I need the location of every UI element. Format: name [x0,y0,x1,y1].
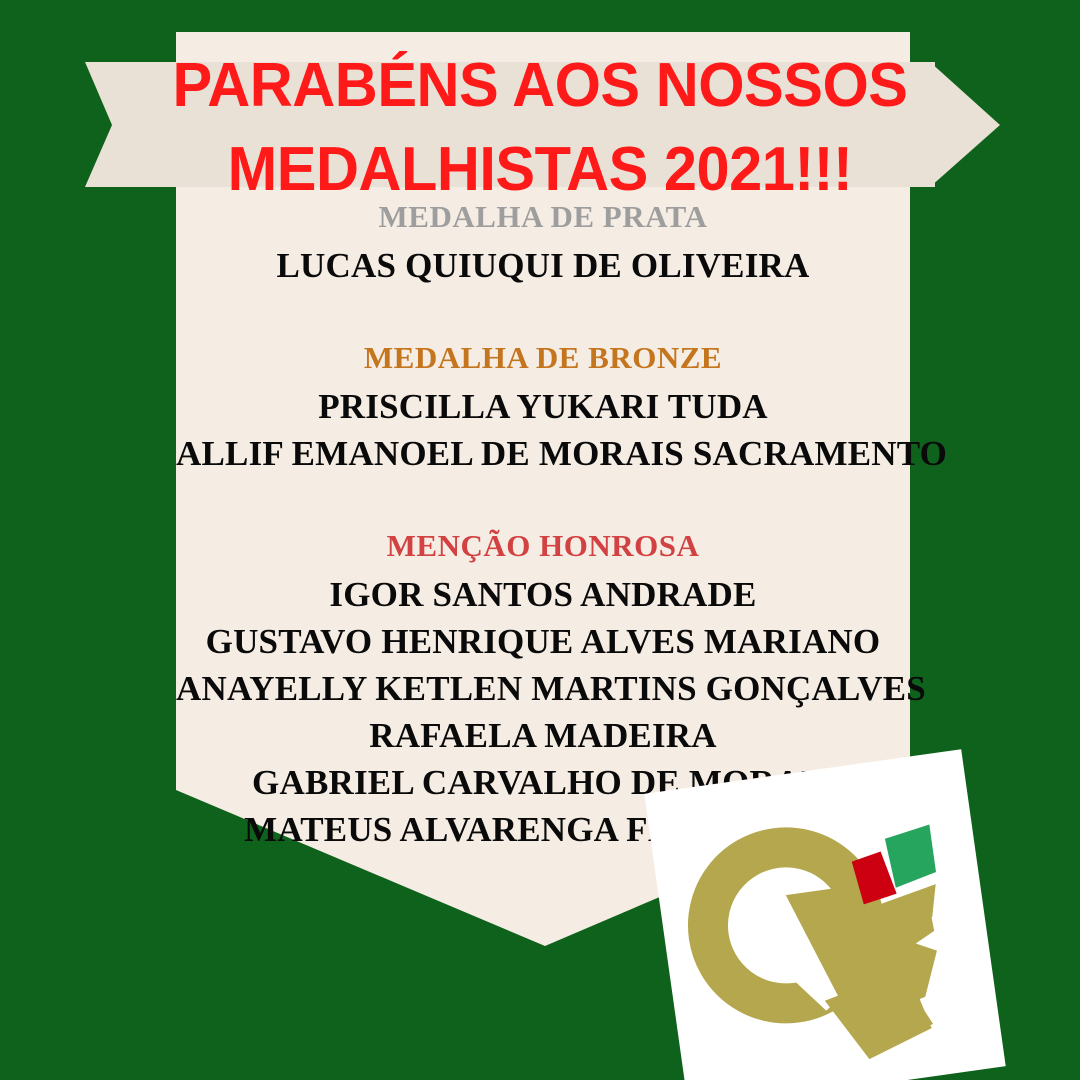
section-silver: MEDALHA DE PRATA LUCAS QUIUQUI DE OLIVEI… [176,196,910,289]
poster-canvas: PARABÉNS AOS NOSSOS MEDALHISTAS 2021!!! … [0,0,1080,1080]
list-item: IGOR SANTOS ANDRADE [176,571,910,618]
organization-logo [644,749,1005,1080]
list-item: RAFAELA MADEIRA [176,712,910,759]
section-title-honorable-mention: MENÇÃO HONROSA [176,525,910,567]
section-title-silver: MEDALHA DE PRATA [176,196,910,238]
qv-monogram-icon [644,749,1005,1080]
page-title: PARABÉNS AOS NOSSOS MEDALHISTAS 2021!!! [22,44,1059,212]
list-item: ANAYELLY KETLEN MARTINS GONÇALVES [176,665,910,712]
medalists-list: MEDALHA DE PRATA LUCAS QUIUQUI DE OLIVEI… [176,196,910,853]
section-bronze: MEDALHA DE BRONZE PRISCILLA YUKARI TUDA … [176,337,910,477]
list-item: PRISCILLA YUKARI TUDA [176,383,910,430]
section-title-bronze: MEDALHA DE BRONZE [176,337,910,379]
spacer [176,289,910,337]
spacer [176,477,910,525]
list-item: LUCAS QUIUQUI DE OLIVEIRA [176,242,910,289]
list-item: GUSTAVO HENRIQUE ALVES MARIANO [176,618,910,665]
list-item: ALLIF EMANOEL DE MORAIS SACRAMENTO [176,430,910,477]
